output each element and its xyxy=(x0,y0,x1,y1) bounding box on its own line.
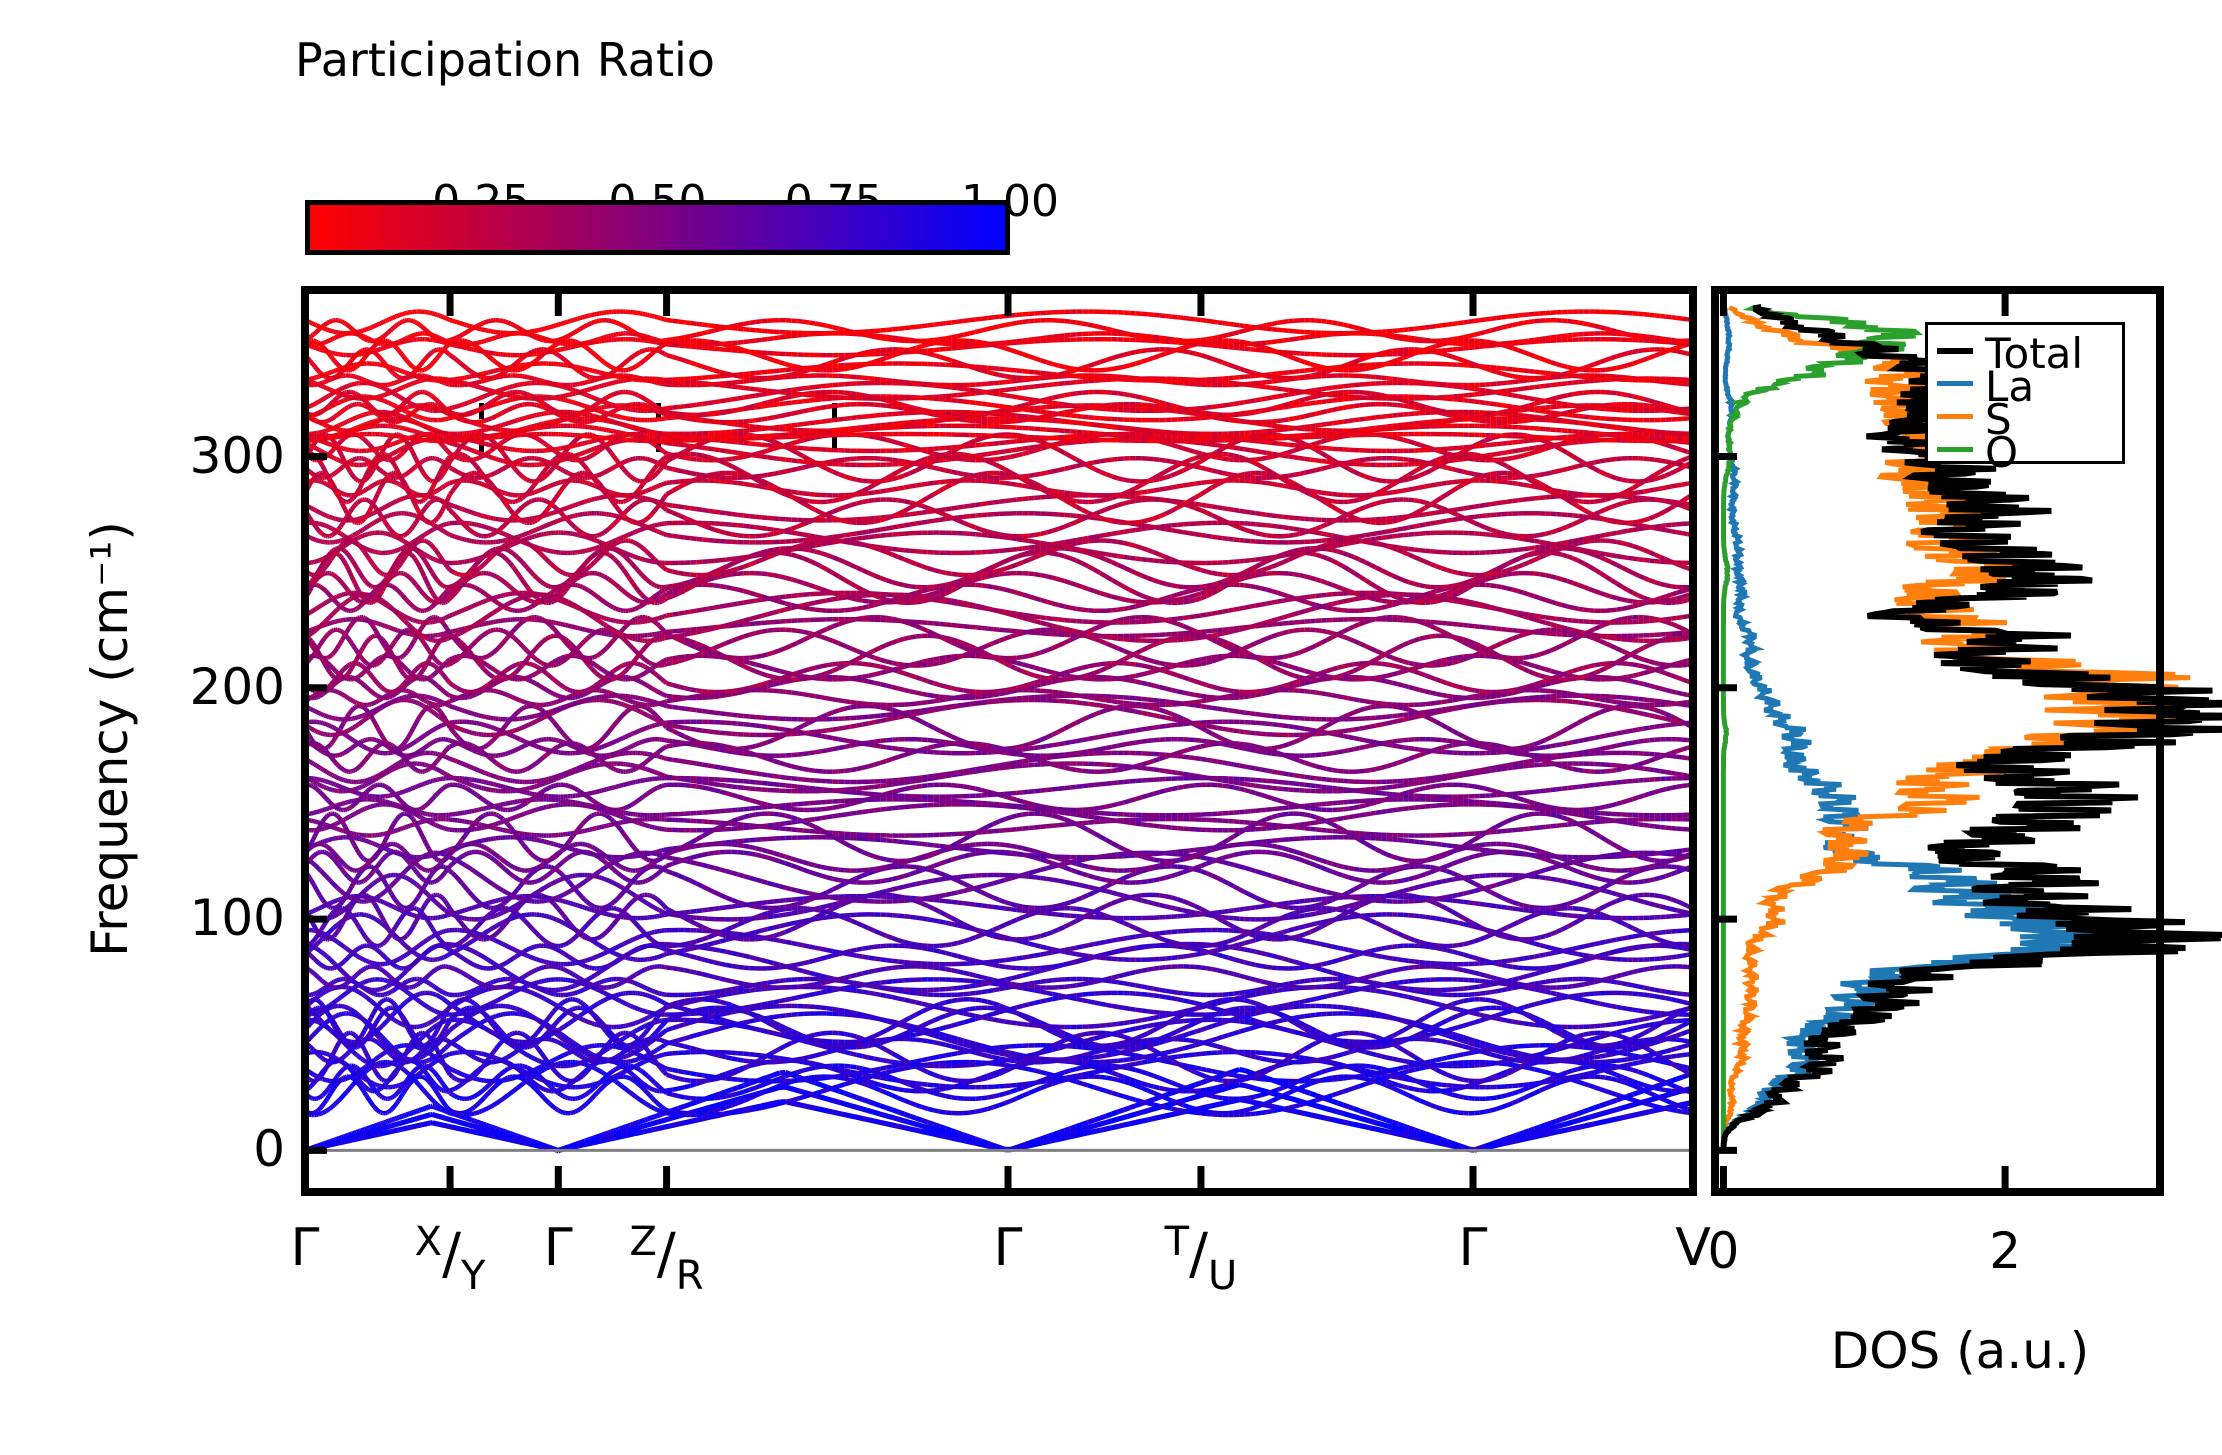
legend-label-o: O xyxy=(1985,428,2018,477)
dos-xtick-label: 2 xyxy=(1945,1222,2065,1280)
legend-swatch-total xyxy=(1937,348,1973,354)
dos-xtick-labels: 02 xyxy=(0,0,2222,1455)
dos-xlabel: DOS (a.u.) xyxy=(1715,1322,2205,1380)
legend-swatch-la xyxy=(1937,381,1973,386)
dos-xtick-label: 0 xyxy=(1663,1222,1783,1280)
legend-swatch-s xyxy=(1937,414,1973,419)
legend-swatch-o xyxy=(1937,447,1973,452)
